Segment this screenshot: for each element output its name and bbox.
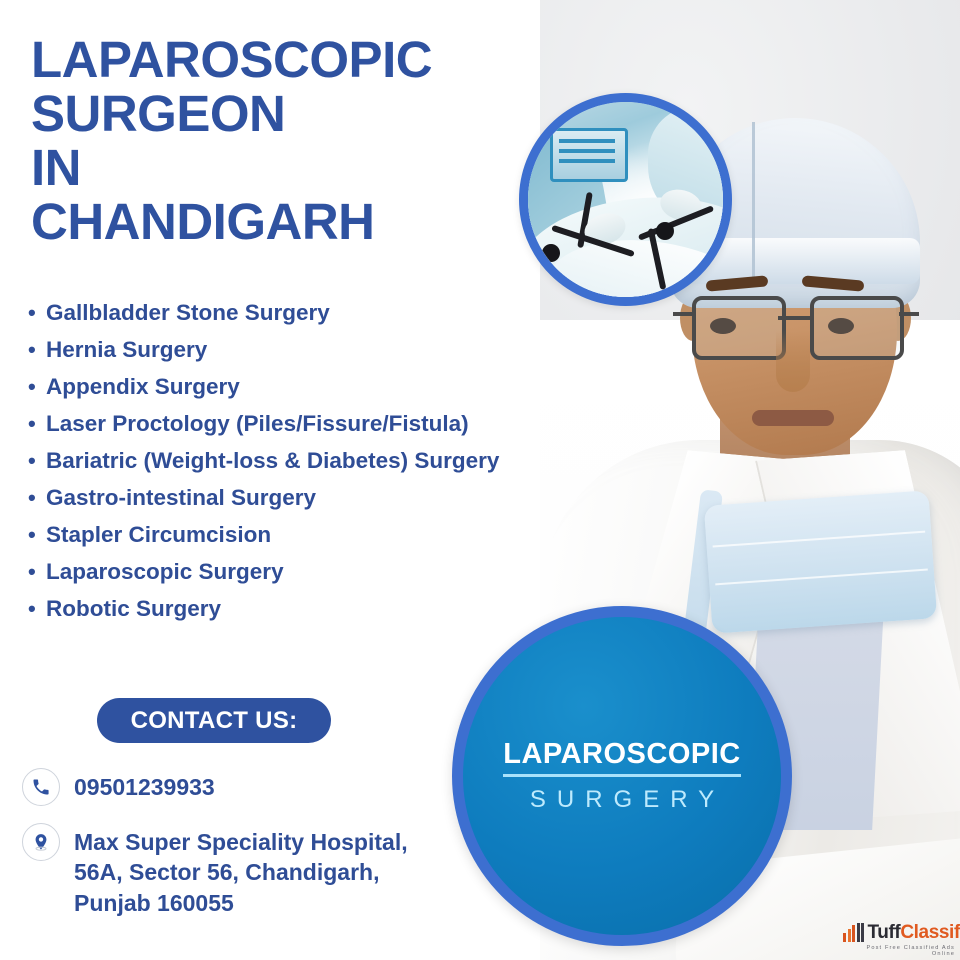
logo-name-part2: Classified xyxy=(900,923,960,942)
list-item: • Robotic Surgery xyxy=(28,598,588,621)
bullet-icon: • xyxy=(28,376,46,398)
laparoscopic-surgery-badge: LAPAROSCOPIC SURGERY xyxy=(452,606,792,946)
logo-wordmark: Tuff Classified xyxy=(843,921,955,942)
list-item: • Bariatric (Weight-loss & Diabetes) Sur… xyxy=(28,450,588,473)
contact-address-row[interactable]: Max Super Speciality Hospital, 56A, Sect… xyxy=(22,823,408,918)
surgical-cap-seam xyxy=(752,122,755,287)
list-item: • Appendix Surgery xyxy=(28,376,588,399)
title-line-2: SURGEON xyxy=(31,87,501,141)
bar-chart-icon xyxy=(843,923,866,942)
service-label: Stapler Circumcision xyxy=(46,524,271,547)
bullet-icon: • xyxy=(28,450,46,472)
service-label: Robotic Surgery xyxy=(46,598,221,621)
logo-tagline: Post Free Classified Ads Online xyxy=(843,945,955,957)
address-text: Max Super Speciality Hospital, 56A, Sect… xyxy=(74,823,408,918)
address-line-2: 56A, Sector 56, Chandigarh, xyxy=(74,857,408,887)
bullet-icon: • xyxy=(28,598,46,620)
bullet-icon: • xyxy=(28,339,46,361)
eyeglass-bridge xyxy=(778,316,810,320)
poster-canvas: LAPAROSCOPIC SURGERY LAPAROSCOPIC SURGEO… xyxy=(0,0,960,960)
service-label: Bariatric (Weight-loss & Diabetes) Surge… xyxy=(46,450,499,473)
service-label: Laparoscopic Surgery xyxy=(46,561,284,584)
list-item: • Laser Proctology (Piles/Fissure/Fistul… xyxy=(28,413,588,436)
title-line-1: LAPAROSCOPIC xyxy=(31,33,501,87)
address-line-3: Punjab 160055 xyxy=(74,888,408,918)
bullet-icon: • xyxy=(28,524,46,546)
page-title: LAPAROSCOPIC SURGEON IN CHANDIGARH xyxy=(31,33,501,249)
eyeglass-temple-left xyxy=(673,312,693,316)
service-label: Gastro-intestinal Surgery xyxy=(46,487,316,510)
instrument-handle-1 xyxy=(542,244,560,262)
list-item: • Gastro-intestinal Surgery xyxy=(28,487,588,510)
logo-name-part1: Tuff xyxy=(868,923,901,942)
bullet-icon: • xyxy=(28,413,46,435)
badge-subtitle: SURGERY xyxy=(519,788,725,812)
surgery-photo-circle xyxy=(519,93,732,306)
doctor-mouth xyxy=(752,410,834,426)
service-label: Laser Proctology (Piles/Fissure/Fistula) xyxy=(46,413,469,436)
service-label: Appendix Surgery xyxy=(46,376,240,399)
tuffclassified-watermark[interactable]: Tuff Classified Post Free Classified Ads… xyxy=(843,921,955,955)
bullet-icon: • xyxy=(28,302,46,324)
address-line-1: Max Super Speciality Hospital, xyxy=(74,827,408,857)
instrument-handle-2 xyxy=(656,222,674,240)
face-mask xyxy=(704,490,937,633)
services-list: • Gallbladder Stone Surgery • Hernia Sur… xyxy=(28,302,588,635)
operating-room-monitor xyxy=(550,128,628,182)
service-label: Hernia Surgery xyxy=(46,339,207,362)
service-label: Gallbladder Stone Surgery xyxy=(46,302,330,325)
title-line-4: CHANDIGARH xyxy=(31,195,501,249)
list-item: • Stapler Circumcision xyxy=(28,524,588,547)
eyeglass-lens-left xyxy=(692,296,786,360)
surgery-photo-image xyxy=(528,102,723,297)
contact-us-heading: CONTACT US: xyxy=(97,698,331,743)
title-line-3: IN xyxy=(31,141,501,195)
list-item: • Hernia Surgery xyxy=(28,339,588,362)
bullet-icon: • xyxy=(28,487,46,509)
phone-icon xyxy=(22,768,60,806)
list-item: • Laparoscopic Surgery xyxy=(28,561,588,584)
phone-number: 09501239933 xyxy=(74,768,215,802)
bullet-icon: • xyxy=(28,561,46,583)
map-pin-icon xyxy=(22,823,60,861)
contact-phone-row[interactable]: 09501239933 xyxy=(22,768,215,806)
badge-title: LAPAROSCOPIC xyxy=(503,740,740,777)
doctor-nose xyxy=(776,330,810,392)
eyeglass-lens-right xyxy=(810,296,904,360)
list-item: • Gallbladder Stone Surgery xyxy=(28,302,588,325)
eyeglass-temple-right xyxy=(899,312,919,316)
